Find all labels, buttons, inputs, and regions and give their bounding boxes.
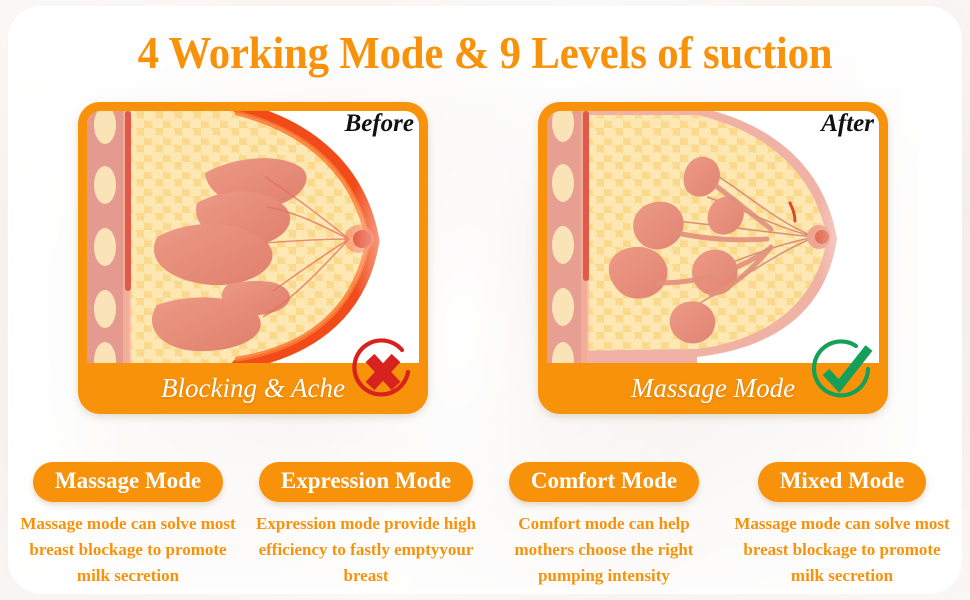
- comparison-panel-after: After Massage Mode: [538, 102, 888, 414]
- mode-column-mixed: Mixed Mode Massage mode can solve most b…: [728, 462, 956, 589]
- panel-tag-after: After: [821, 110, 874, 138]
- infographic-banner: 4 Working Mode & 9 Levels of suction: [0, 0, 970, 600]
- mode-pill-mixed[interactable]: Mixed Mode: [758, 462, 927, 502]
- mode-pill-massage[interactable]: Massage Mode: [33, 462, 223, 502]
- mode-list: Massage Mode Massage mode can solve most…: [14, 462, 956, 589]
- cross-circle-icon: [346, 336, 418, 408]
- mode-column-expression: Expression Mode Expression mode provide …: [252, 462, 480, 589]
- panel-tag-before: Before: [345, 110, 414, 138]
- mode-description-mixed: Massage mode can solve most breast block…: [729, 511, 955, 589]
- after-anatomy-svg: [547, 111, 879, 363]
- before-anatomy-svg: [87, 111, 419, 363]
- mode-pill-comfort[interactable]: Comfort Mode: [509, 462, 699, 502]
- mode-pill-expression[interactable]: Expression Mode: [259, 462, 473, 502]
- mode-column-comfort: Comfort Mode Comfort mode can help mothe…: [490, 462, 718, 589]
- comparison-panel-before: Before Blocking & Ache: [78, 102, 428, 414]
- page-title: 4 Working Mode & 9 Levels of suction: [34, 24, 936, 82]
- mode-description-comfort: Comfort mode can help mothers choose the…: [491, 511, 717, 589]
- mode-column-massage: Massage Mode Massage mode can solve most…: [14, 462, 242, 589]
- mode-description-massage: Massage mode can solve most breast block…: [15, 511, 241, 589]
- blocked-breast-anatomy-illustration: [87, 111, 419, 363]
- mode-description-expression: Expression mode provide high efficiency …: [253, 511, 479, 589]
- healthy-breast-anatomy-illustration: [547, 111, 879, 363]
- check-circle-icon: [806, 336, 878, 408]
